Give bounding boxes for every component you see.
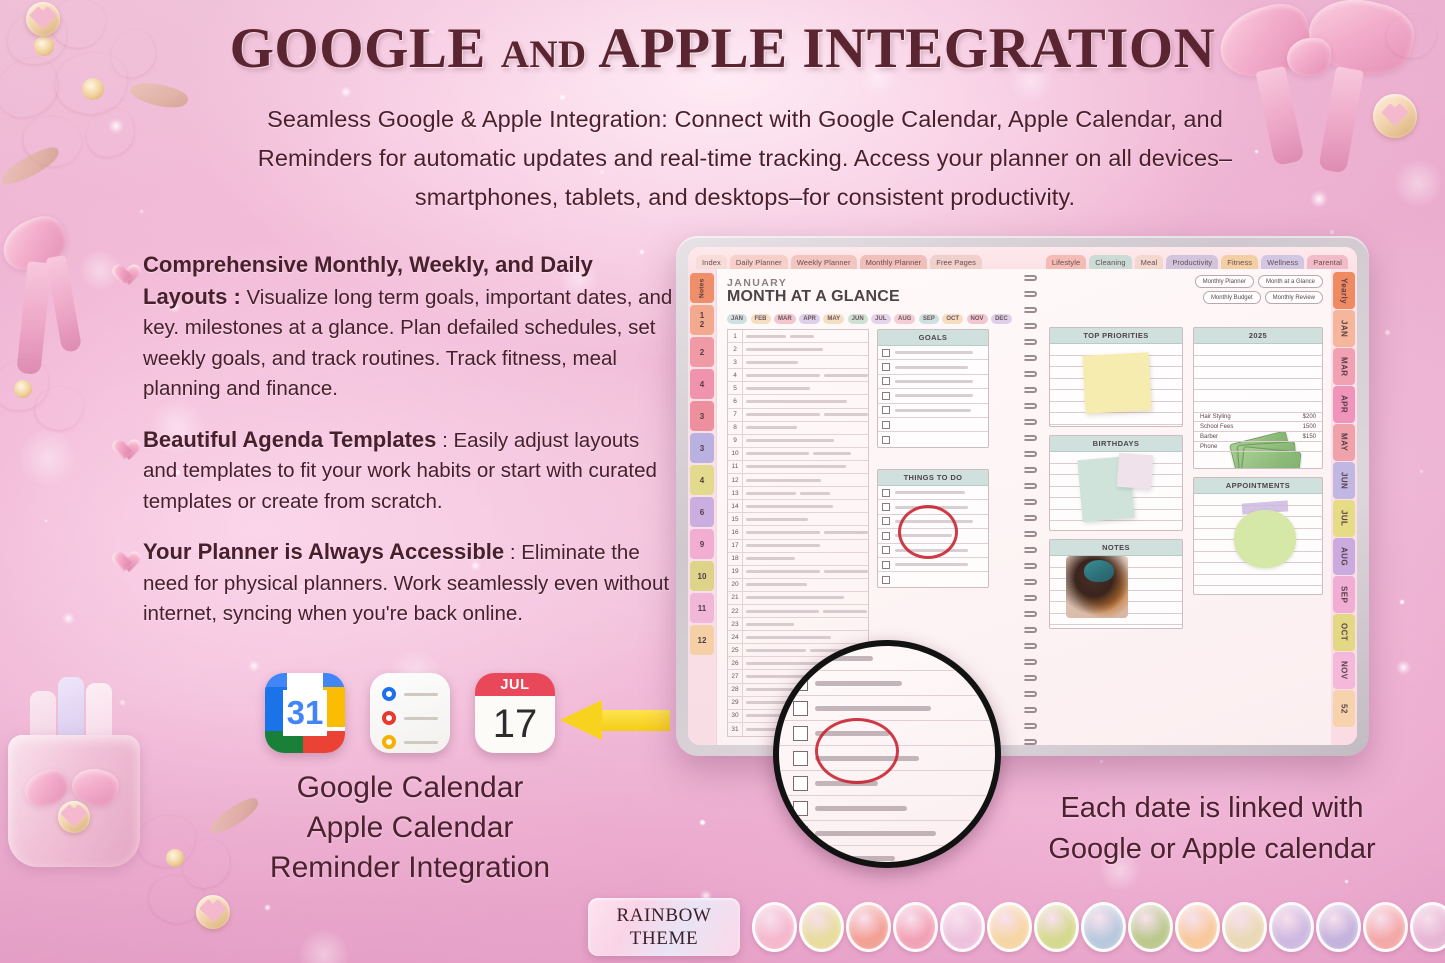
subtitle-text: Seamless Google & Apple Integration: Con… xyxy=(240,100,1250,217)
teal-headwrap xyxy=(1084,560,1114,582)
ruled-line[interactable] xyxy=(1050,413,1182,425)
color-swatch[interactable] xyxy=(846,902,891,952)
planner-tabs-left[interactable]: IndexDaily PlannerWeekly PlannerMonthly … xyxy=(688,247,985,269)
day-row[interactable]: 15 xyxy=(728,513,868,526)
day-row[interactable]: 23 xyxy=(728,618,868,631)
month-pill[interactable]: JUN xyxy=(848,314,868,324)
top-priorities-panel: TOP PRIORITIES xyxy=(1049,327,1183,427)
planner-tab[interactable]: Monthly Planner xyxy=(860,255,928,269)
day-number: 1 xyxy=(728,330,743,342)
theme-badge: RAINBOW THEME xyxy=(588,898,740,956)
color-swatch[interactable] xyxy=(1222,902,1267,952)
title-part1: GOOGLE xyxy=(230,17,486,80)
planner-tab[interactable]: Index xyxy=(696,255,727,269)
title-part2: APPLE INTEGRATION xyxy=(598,17,1215,80)
apple-calendar-icon[interactable]: JUL 17 xyxy=(475,673,555,753)
magnifier-zoom-circle xyxy=(773,640,1001,868)
checkbox[interactable] xyxy=(882,392,890,400)
day-entry[interactable] xyxy=(743,369,868,381)
day-number: 29 xyxy=(728,697,743,709)
day-row[interactable]: 10 xyxy=(728,448,868,461)
magnified-row xyxy=(779,771,995,796)
sticky-note-appointment xyxy=(1234,510,1296,568)
day-row[interactable]: 14 xyxy=(728,500,868,513)
day-row[interactable]: 21 xyxy=(728,592,868,605)
planner-side-tab[interactable]: 12 xyxy=(690,305,714,335)
finance-row[interactable]: Hair Styling $200 xyxy=(1194,412,1322,422)
day-number: 8 xyxy=(728,422,743,434)
finance-lines[interactable] xyxy=(1194,344,1322,413)
google-calendar-icon[interactable]: 31 xyxy=(265,673,345,753)
ruled-line[interactable] xyxy=(1194,390,1322,402)
feature-item: Comprehensive Monthly, Weekly, and Daily… xyxy=(108,250,678,405)
day-row[interactable]: 2 xyxy=(728,343,868,356)
color-swatch[interactable] xyxy=(1363,902,1408,952)
ruled-line[interactable] xyxy=(1194,586,1322,595)
caption-line-1: Google Calendar xyxy=(230,768,590,808)
day-entry[interactable] xyxy=(743,461,868,473)
ruled-line[interactable] xyxy=(1194,344,1322,356)
tablet-device: IndexDaily PlannerWeekly PlannerMonthly … xyxy=(676,236,1369,756)
color-swatch[interactable] xyxy=(940,902,985,952)
month-pill[interactable]: APR xyxy=(799,314,820,324)
app-integration-caption: Google Calendar Apple Calendar Reminder … xyxy=(230,768,590,888)
todo-row[interactable] xyxy=(878,572,988,586)
todo-row[interactable] xyxy=(878,558,988,572)
day-number: 6 xyxy=(728,395,743,407)
day-entry[interactable] xyxy=(743,579,868,591)
sticky-note-small xyxy=(1117,453,1153,489)
day-number: 25 xyxy=(728,644,743,656)
day-row[interactable]: 22 xyxy=(728,605,868,618)
day-entry[interactable] xyxy=(743,487,868,499)
goal-row[interactable] xyxy=(878,360,988,374)
feature-item: Your Planner is Always Accessible : Elim… xyxy=(108,537,678,630)
link-caption-line-1: Each date is linked with xyxy=(1012,788,1412,829)
finance-label: Hair Styling xyxy=(1200,414,1231,420)
day-number: 4 xyxy=(728,369,743,381)
planner-month-tab[interactable]: NOV xyxy=(1333,652,1355,689)
planner-side-tab[interactable]: 9 xyxy=(690,529,714,559)
goal-row[interactable] xyxy=(878,432,988,446)
planner-side-tab[interactable]: 2 xyxy=(690,337,714,367)
feature-list: Comprehensive Monthly, Weekly, and Daily… xyxy=(108,250,678,650)
planner-month-tab[interactable]: SEP xyxy=(1333,576,1355,613)
planner-side-tab[interactable]: 6 xyxy=(690,497,714,527)
magnified-row xyxy=(779,696,995,721)
checkbox[interactable] xyxy=(882,532,890,540)
day-entry[interactable] xyxy=(743,422,868,434)
day-number: 11 xyxy=(728,461,743,473)
day-row[interactable]: 17 xyxy=(728,540,868,553)
planner-month-tab[interactable]: 52 xyxy=(1333,690,1355,727)
goal-row[interactable] xyxy=(878,404,988,418)
color-swatch-row[interactable] xyxy=(752,902,1445,952)
planner-nav-button[interactable]: Month at a Glance xyxy=(1258,275,1323,288)
day-entry[interactable] xyxy=(743,605,868,617)
day-entry[interactable] xyxy=(743,553,868,565)
day-entry[interactable] xyxy=(743,631,868,643)
planner-month-tab[interactable]: AUG xyxy=(1333,538,1355,575)
day-entry[interactable] xyxy=(743,513,868,525)
color-swatch[interactable] xyxy=(1316,902,1361,952)
birthdays-panel: BIRTHDAYS xyxy=(1049,435,1183,531)
planner-tab[interactable]: Meal xyxy=(1135,255,1164,269)
day-row[interactable]: 13 xyxy=(728,487,868,500)
pen-cup xyxy=(8,735,140,867)
planner-month-tabs[interactable]: YearlyJANMARAPRMAYJUNJULAUGSEPOCTNOV52 xyxy=(1331,269,1357,745)
theme-badge-line2: THEME xyxy=(630,927,698,950)
day-number: 23 xyxy=(728,618,743,630)
month-pill[interactable]: DEC xyxy=(991,314,1012,324)
day-number: 24 xyxy=(728,631,743,643)
month-pill[interactable]: NOV xyxy=(967,314,988,324)
planner-side-tab[interactable]: 11 xyxy=(690,593,714,623)
birthdays-title: BIRTHDAYS xyxy=(1050,436,1182,452)
feature-title: Beautiful Agenda Templates xyxy=(143,427,436,452)
month-pill[interactable]: MAR xyxy=(774,314,796,324)
planner-month-tab[interactable]: JAN xyxy=(1333,310,1355,347)
day-number: 3 xyxy=(728,356,743,368)
day-entry[interactable] xyxy=(743,448,868,460)
title-and: AND xyxy=(501,33,587,76)
checkbox[interactable] xyxy=(882,406,890,414)
planner-month-tab[interactable]: Yearly xyxy=(1333,272,1355,309)
day-row[interactable]: 5 xyxy=(728,382,868,395)
day-number: 5 xyxy=(728,382,743,394)
theme-badge-line1: RAINBOW xyxy=(617,904,712,927)
finance-value: $200 xyxy=(1303,414,1316,420)
checkbox[interactable] xyxy=(882,377,890,385)
planner-month-tab[interactable]: OCT xyxy=(1333,614,1355,651)
planner-side-tab[interactable]: 10 xyxy=(690,561,714,591)
day-number: 26 xyxy=(728,657,743,669)
day-entry[interactable] xyxy=(743,566,868,578)
month-pill[interactable]: OCT xyxy=(942,314,963,324)
color-swatch[interactable] xyxy=(1410,902,1445,952)
day-number: 10 xyxy=(728,448,743,460)
planner-side-tab[interactable]: Notes xyxy=(690,273,714,303)
planner-side-tab[interactable]: 3 xyxy=(690,401,714,431)
day-row[interactable]: 20 xyxy=(728,579,868,592)
day-number: 7 xyxy=(728,409,743,421)
checkbox[interactable] xyxy=(882,517,890,525)
year-finance-panel: 2025 Hair Styling $200 School Fees 1500 … xyxy=(1193,327,1323,469)
notes-title: NOTES xyxy=(1050,540,1182,556)
day-number: 14 xyxy=(728,500,743,512)
yellow-arrow-icon xyxy=(560,700,670,740)
day-row[interactable]: 18 xyxy=(728,553,868,566)
checkbox xyxy=(793,701,808,716)
day-entry[interactable] xyxy=(743,343,868,355)
finance-value: $150 xyxy=(1303,434,1316,440)
goals-list[interactable] xyxy=(878,346,988,447)
planner-page-title: MONTH AT A GLANCE xyxy=(727,288,900,306)
planner-side-tab[interactable]: 12 xyxy=(690,625,714,655)
color-swatch[interactable] xyxy=(1034,902,1079,952)
day-row[interactable]: 1 xyxy=(728,330,868,343)
month-pill[interactable]: FEB xyxy=(751,314,771,324)
planner-tab-bar: IndexDaily PlannerWeekly PlannerMonthly … xyxy=(688,247,1357,269)
magnified-row xyxy=(779,671,995,696)
planner-month-tab[interactable]: JUL xyxy=(1333,500,1355,537)
color-swatch[interactable] xyxy=(1081,902,1126,952)
feature-item: Beautiful Agenda Templates : Easily adju… xyxy=(108,425,678,518)
checkbox[interactable] xyxy=(882,576,890,584)
color-swatch[interactable] xyxy=(1269,902,1314,952)
color-swatch[interactable] xyxy=(893,902,938,952)
color-swatch[interactable] xyxy=(799,902,844,952)
day-row[interactable]: 12 xyxy=(728,474,868,487)
heart-icon xyxy=(108,431,133,454)
goal-row[interactable] xyxy=(878,418,988,432)
day-entry[interactable] xyxy=(743,356,868,368)
app-icon-row: 31 JUL 17 xyxy=(265,673,555,753)
color-swatch[interactable] xyxy=(1175,902,1220,952)
day-entry[interactable] xyxy=(743,592,868,604)
finance-label: School Fees xyxy=(1200,424,1233,430)
color-swatch[interactable] xyxy=(752,902,797,952)
checkbox xyxy=(793,776,808,791)
ruled-line[interactable] xyxy=(1194,367,1322,379)
sticky-note-priority xyxy=(1083,352,1152,413)
planner-tab[interactable]: Lifestyle xyxy=(1046,255,1086,269)
day-number: 9 xyxy=(728,435,743,447)
checkbox[interactable] xyxy=(882,489,890,497)
day-row[interactable]: 24 xyxy=(728,631,868,644)
planner-tab[interactable]: Wellness xyxy=(1261,255,1304,269)
ruled-line[interactable] xyxy=(1194,575,1322,587)
day-entry[interactable] xyxy=(743,540,868,552)
heart-icon xyxy=(108,543,133,566)
appointments-panel: APPOINTMENTS xyxy=(1193,477,1323,595)
planner-tab[interactable]: Productivity xyxy=(1166,255,1218,269)
day-row[interactable]: 3 xyxy=(728,356,868,369)
day-row[interactable]: 7 xyxy=(728,409,868,422)
day-number: 15 xyxy=(728,513,743,525)
day-entry[interactable] xyxy=(743,474,868,486)
month-pill[interactable]: MAY xyxy=(823,314,844,324)
ruled-line[interactable] xyxy=(1050,521,1182,531)
finance-value: 1500 xyxy=(1303,424,1316,430)
day-entry[interactable] xyxy=(743,500,868,512)
planner-page-header: JANUARY MONTH AT A GLANCE xyxy=(727,277,900,306)
planner-nav-button[interactable]: Monthly Budget xyxy=(1203,291,1261,304)
planner-side-tab[interactable]: 4 xyxy=(690,369,714,399)
checkbox xyxy=(793,801,808,816)
checkbox[interactable] xyxy=(882,421,890,429)
day-number: 19 xyxy=(728,566,743,578)
day-number: 20 xyxy=(728,579,743,591)
tablet-screen: IndexDaily PlannerWeekly PlannerMonthly … xyxy=(688,247,1357,745)
goal-row[interactable] xyxy=(878,375,988,389)
planner-nav-button[interactable]: Monthly Planner xyxy=(1195,275,1254,288)
finance-rows: Hair Styling $200 School Fees 1500 Barbe… xyxy=(1194,412,1322,452)
finance-row[interactable]: School Fees 1500 xyxy=(1194,422,1322,432)
day-number: 16 xyxy=(728,526,743,538)
month-pill[interactable]: SEP xyxy=(919,314,939,324)
day-number: 21 xyxy=(728,592,743,604)
planner-tab[interactable]: Parental xyxy=(1307,255,1348,269)
ruled-line[interactable] xyxy=(1194,379,1322,391)
color-swatch[interactable] xyxy=(1128,902,1173,952)
checkbox xyxy=(793,751,808,766)
feature-title: Your Planner is Always Accessible xyxy=(143,539,504,564)
link-caption-line-2: Google or Apple calendar xyxy=(1012,829,1412,870)
checkbox[interactable] xyxy=(882,503,890,511)
apple-reminders-icon[interactable] xyxy=(370,673,450,753)
planner-tab[interactable]: Weekly Planner xyxy=(791,255,857,269)
planner-top-buttons[interactable]: Monthly PlannerMonth at a GlanceMonthly … xyxy=(1195,275,1323,304)
finance-label: Barber xyxy=(1200,434,1218,440)
day-row[interactable]: 16 xyxy=(728,526,868,539)
checkbox[interactable] xyxy=(882,436,890,444)
month-pill-row[interactable]: JANFEBMARAPRMAYJUNJULAUGSEPOCTNOVDEC xyxy=(727,314,1012,324)
todo-row[interactable] xyxy=(878,486,988,500)
month-pill[interactable]: AUG xyxy=(894,314,915,324)
day-number: 18 xyxy=(728,553,743,565)
day-row[interactable]: 4 xyxy=(728,369,868,382)
day-number: 28 xyxy=(728,684,743,696)
planner-nav-button[interactable]: Monthly Review xyxy=(1265,291,1323,304)
apple-calendar-month: JUL xyxy=(475,673,555,696)
caption-line-2: Apple Calendar xyxy=(230,808,590,848)
day-entry[interactable] xyxy=(743,526,868,538)
planner-month-tab[interactable]: APR xyxy=(1333,386,1355,423)
year-panel-title: 2025 xyxy=(1194,328,1322,344)
planner-side-tab[interactable]: 3 xyxy=(690,433,714,463)
color-swatch[interactable] xyxy=(987,902,1032,952)
checkbox[interactable] xyxy=(882,349,890,357)
finance-label: Phone xyxy=(1200,444,1217,450)
planner-tab[interactable]: Free Pages xyxy=(930,255,982,269)
day-entry[interactable] xyxy=(743,409,868,421)
checkbox[interactable] xyxy=(882,363,890,371)
planner-month-tab[interactable]: MAR xyxy=(1333,348,1355,385)
day-number: 17 xyxy=(728,540,743,552)
planner-month-tab[interactable]: MAY xyxy=(1333,424,1355,461)
day-entry[interactable] xyxy=(743,330,868,342)
checkbox[interactable] xyxy=(882,546,890,554)
goal-row[interactable] xyxy=(878,346,988,360)
ruled-line[interactable] xyxy=(1194,356,1322,368)
day-row[interactable]: 11 xyxy=(728,461,868,474)
goal-row[interactable] xyxy=(878,389,988,403)
todo-panel-title: THINGS TO DO xyxy=(878,470,988,486)
red-annotation-circle xyxy=(815,718,899,784)
finance-row[interactable]: Phone xyxy=(1194,442,1322,452)
page-title: GOOGLE AND APPLE INTEGRATION xyxy=(0,16,1445,81)
day-number: 2 xyxy=(728,343,743,355)
planner-month-tab[interactable]: JUN xyxy=(1333,462,1355,499)
day-entry[interactable] xyxy=(743,435,868,447)
day-row[interactable]: 8 xyxy=(728,422,868,435)
day-row[interactable]: 19 xyxy=(728,566,868,579)
planner-side-tabs-left[interactable]: Notes122433469101112 xyxy=(688,269,716,745)
notes-panel: NOTES xyxy=(1049,539,1183,629)
goals-panel-title: GOALS xyxy=(878,330,988,346)
magnified-row xyxy=(779,796,995,821)
day-entry[interactable] xyxy=(743,395,868,407)
red-annotation-circle-small xyxy=(898,505,958,559)
day-number: 12 xyxy=(728,474,743,486)
day-row[interactable]: 6 xyxy=(728,395,868,408)
spiral-binding xyxy=(1023,275,1037,739)
planner-tabs-right[interactable]: LifestyleCleaningMealProductivityFitness… xyxy=(1046,247,1357,269)
day-row[interactable]: 9 xyxy=(728,435,868,448)
heart-icon xyxy=(108,256,133,279)
checkbox[interactable] xyxy=(882,561,890,569)
top-priorities-title: TOP PRIORITIES xyxy=(1050,328,1182,344)
day-number: 13 xyxy=(728,487,743,499)
month-pill[interactable]: JUL xyxy=(871,314,890,324)
planner-tab[interactable]: Daily Planner xyxy=(730,255,788,269)
month-pill[interactable]: JAN xyxy=(727,314,747,324)
checkbox xyxy=(793,726,808,741)
appointments-title: APPOINTMENTS xyxy=(1194,478,1322,494)
day-entry[interactable] xyxy=(743,618,868,630)
day-number: 30 xyxy=(728,710,743,722)
planner-side-tab[interactable]: 4 xyxy=(690,465,714,495)
caption-line-3: Reminder Integration xyxy=(230,848,590,888)
day-number: 27 xyxy=(728,670,743,682)
link-caption: Each date is linked with Google or Apple… xyxy=(1012,788,1412,870)
day-number: 31 xyxy=(728,723,743,736)
finance-row[interactable]: Barber $150 xyxy=(1194,432,1322,442)
planner-tab[interactable]: Cleaning xyxy=(1089,255,1131,269)
google-calendar-day: 31 xyxy=(265,673,345,753)
day-number: 22 xyxy=(728,605,743,617)
planner-tab[interactable]: Fitness xyxy=(1221,255,1258,269)
goals-panel: GOALS xyxy=(877,329,989,448)
day-entry[interactable] xyxy=(743,382,868,394)
apple-calendar-day: 17 xyxy=(475,696,555,753)
